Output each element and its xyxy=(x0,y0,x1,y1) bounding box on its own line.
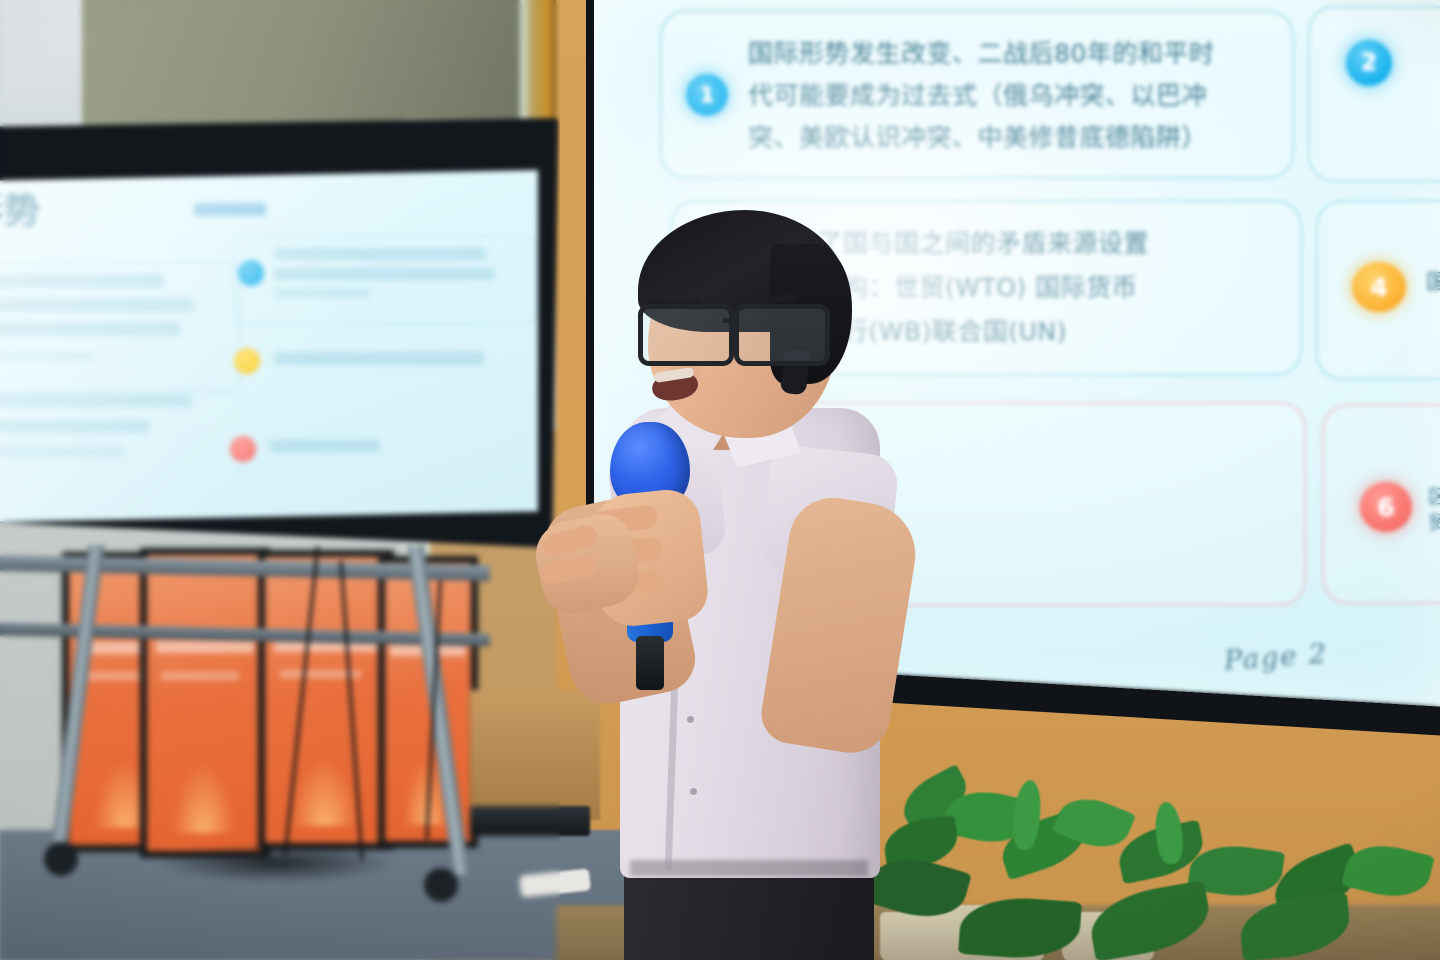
slide-card-1-line-3: 突、美欧认识冲突、中美修昔底德陷阱） xyxy=(748,118,1207,154)
slide-page-number: Page 2 xyxy=(1223,638,1329,676)
poster-right xyxy=(258,550,394,850)
slide-card-4: 2 xyxy=(1308,6,1440,182)
presenter xyxy=(520,200,940,960)
glasses-lens-left xyxy=(638,304,734,366)
slide-badge-6: 6 xyxy=(1360,482,1412,532)
slide-card-5: 4 国 xyxy=(1316,200,1440,380)
glasses-bridge xyxy=(723,318,737,323)
shirt-button xyxy=(690,788,697,795)
slide-badge-1: 1 xyxy=(686,74,728,116)
poster-mid xyxy=(140,548,270,858)
slide-card-6: 6 区 贸 xyxy=(1322,404,1440,604)
slide-card-5-line-1: 国 xyxy=(1426,266,1440,296)
slide-card-1-line-2: 代可能要成为过去式（俄乌冲突、以巴冲 xyxy=(748,76,1207,112)
slide-card-6-line-2: 贸 xyxy=(1428,508,1440,535)
slide-card-1-line-1: 国际形势发生改变、二战后80年的和平时 xyxy=(748,34,1214,70)
tv-monitor: 形势 Page 1 xyxy=(0,118,558,548)
tv-stand-caster xyxy=(44,842,78,876)
slide-card-1: 1 国际形势发生改变、二战后80年的和平时 代可能要成为过去式（俄乌冲突、以巴冲… xyxy=(660,10,1294,179)
shirt-button xyxy=(687,716,694,723)
tv-screen-glare xyxy=(0,170,538,522)
slide-badge-2: 2 xyxy=(1346,40,1392,86)
slide-badge-4: 4 xyxy=(1352,262,1406,312)
glasses-lens-right xyxy=(734,304,830,366)
microphone-base-tip xyxy=(636,636,664,690)
slide-card-6-line-1: 区 xyxy=(1428,482,1440,509)
presenter-glasses xyxy=(638,304,834,358)
cable-bundle xyxy=(110,840,440,886)
presentation-photo: 1 国际形势发生改变、二战后80年的和平时 代可能要成为过去式（俄乌冲突、以巴冲… xyxy=(0,0,1440,960)
